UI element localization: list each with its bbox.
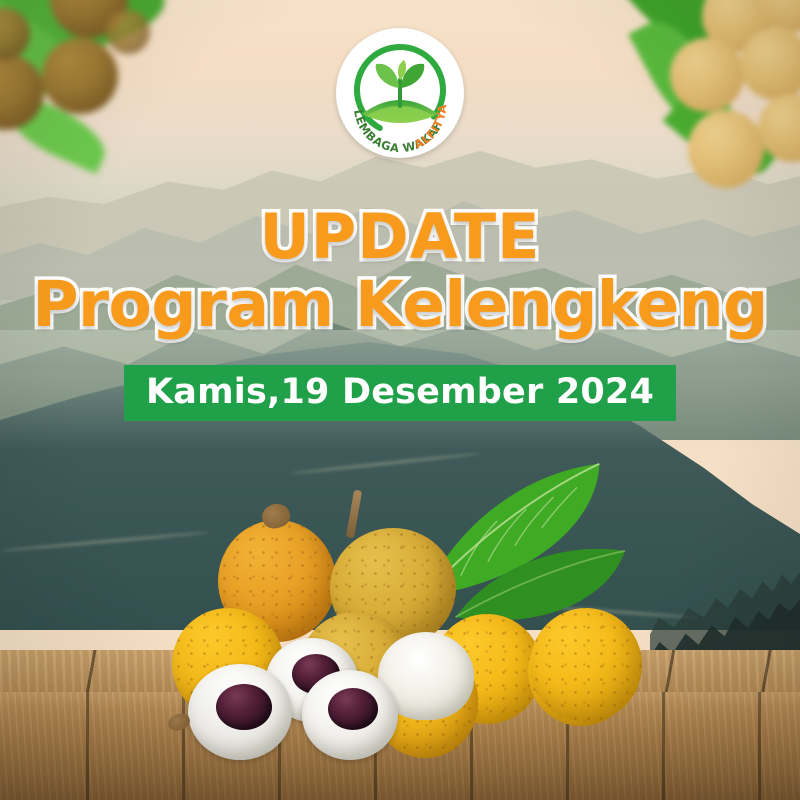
whole-longan-far-right — [530, 608, 642, 722]
headline-block: UPDATE Program Kelengkeng — [0, 206, 800, 336]
fruit-stem — [346, 490, 362, 539]
date-banner-wrap: Kamis,19 Desember 2024 — [0, 365, 800, 421]
headline-line-2: Program Kelengkeng — [0, 273, 800, 336]
longan-seed-2 — [328, 688, 378, 730]
longan-seed-1 — [216, 684, 272, 730]
brand-logo[interactable]: LEMBAGA WAKAF ALFITYAH — [336, 28, 464, 158]
headline-line-1: UPDATE — [259, 200, 540, 273]
poster-canvas: LEMBAGA WAKAF ALFITYAH UPDATE Program Ke… — [0, 0, 800, 800]
date-banner: Kamis,19 Desember 2024 — [124, 365, 676, 421]
